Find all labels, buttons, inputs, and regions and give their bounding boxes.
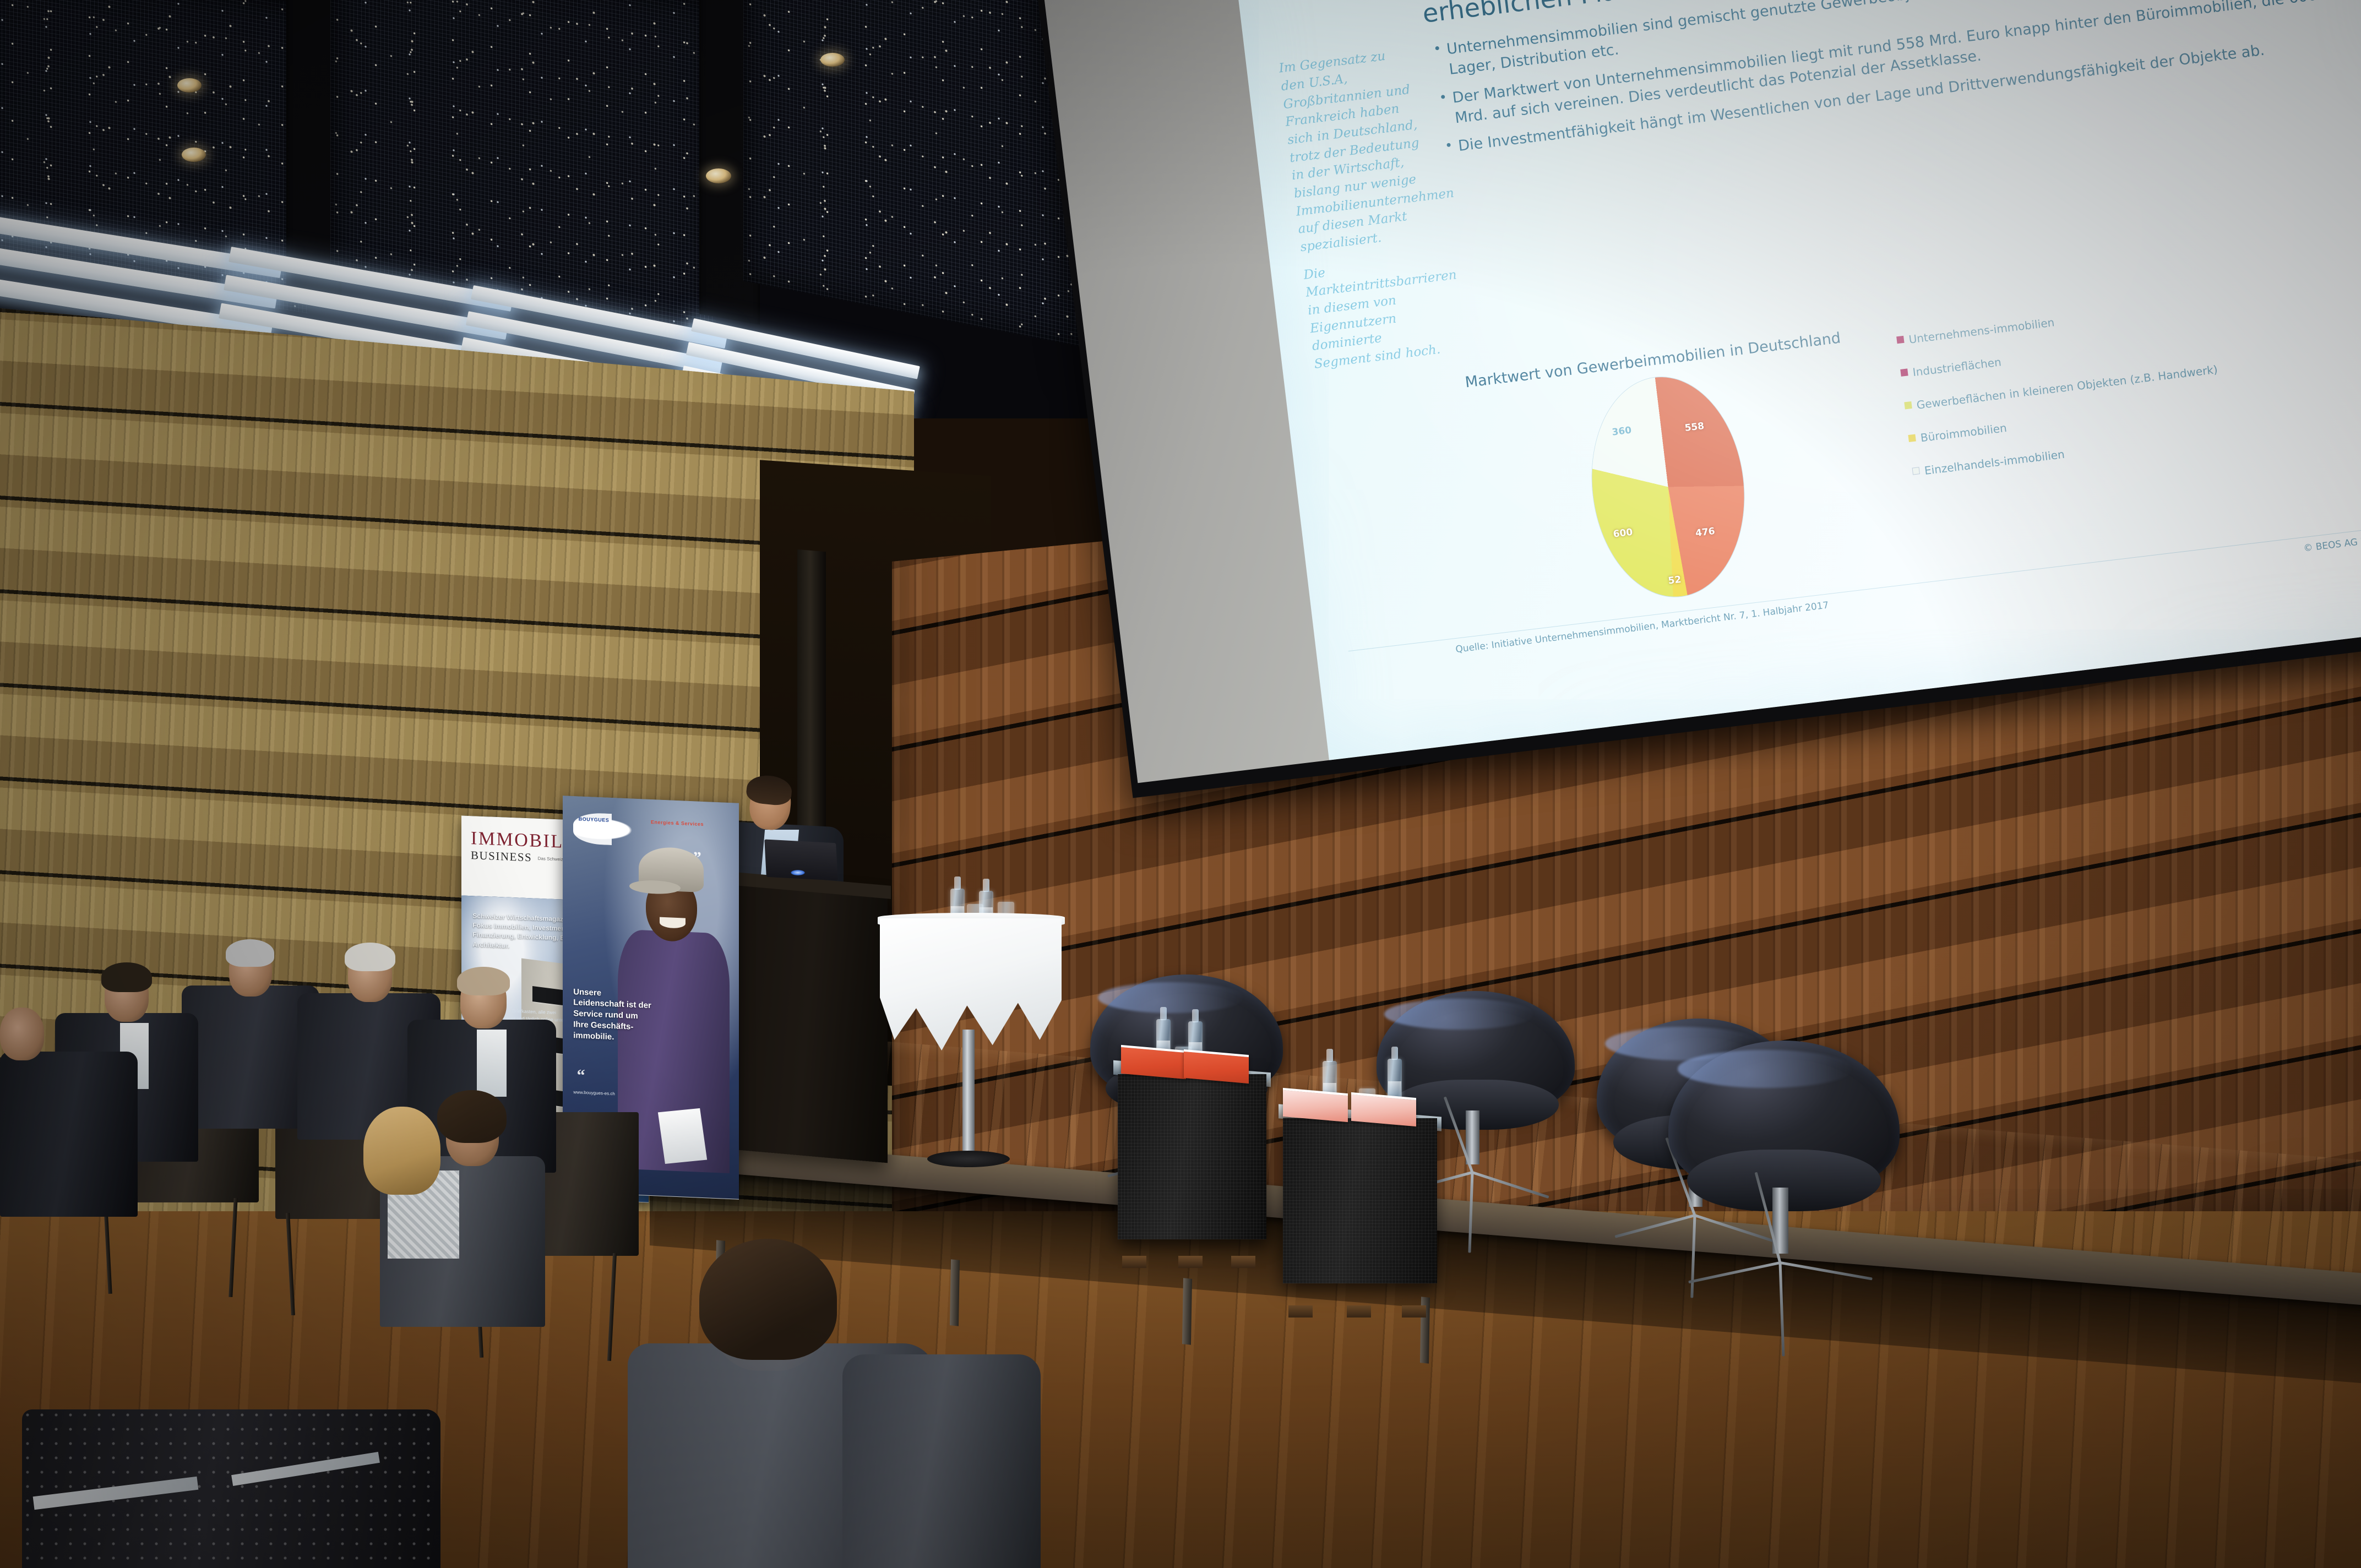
audience-member-foreground: [842, 1288, 1041, 1568]
downlight-icon: [820, 53, 845, 67]
name-card: [1121, 1045, 1186, 1079]
downlight-icon: [706, 168, 731, 183]
chart-legend: Unternehmens-immobilien Industrieflächen…: [1880, 264, 2361, 499]
pie-graphic: [1580, 368, 1756, 605]
cocktail-table: [880, 892, 1078, 1167]
legend-swatch: [1912, 467, 1919, 475]
chair-star-base: [1682, 1244, 1886, 1282]
quote-mark-icon: “: [577, 1066, 585, 1085]
legend-label: Unternehmens-immobilien: [1908, 315, 2055, 346]
banner-notebook: [658, 1108, 707, 1163]
pie-slice-label: 360: [1612, 424, 1633, 438]
legend-label: Büroimmobilien: [1919, 420, 2008, 444]
foreground-chair[interactable]: [22, 1409, 440, 1568]
pie-slice-label: 476: [1695, 526, 1716, 539]
projected-slide: Unternehmensimmobilien sind ein Wachstum…: [1234, 0, 2361, 760]
laptop-led-icon: [791, 870, 805, 875]
audience-member: [330, 1090, 468, 1321]
name-card: [1351, 1092, 1416, 1126]
side-note-paragraph: Im Gegensatz zu den U.S.A, Großbritannie…: [1278, 45, 1432, 257]
conference-room-scene: Unternehmensimmobilien sind ein Wachstum…: [0, 0, 2361, 1568]
pie-slice-label: 600: [1613, 526, 1634, 540]
starry-ceiling-panel: [330, 0, 716, 342]
legend-swatch: [1900, 368, 1908, 376]
downlight-icon: [182, 148, 206, 162]
legend-swatch: [1904, 401, 1912, 409]
banner-ib-subtitle: BUSINESS: [471, 849, 532, 864]
pie-slice-label: 558: [1684, 421, 1705, 434]
legend-swatch: [1908, 434, 1916, 442]
side-table: [1283, 1087, 1437, 1308]
side-note-paragraph: Die Markteintrittsbarrieren in diesem vo…: [1303, 251, 1446, 374]
downlight-icon: [177, 78, 202, 92]
pie-slice-label: 52: [1668, 574, 1682, 586]
side-table: [1118, 1043, 1266, 1258]
lounge-chair: [1668, 1041, 1900, 1277]
stage-leg: [1182, 1278, 1192, 1344]
legend-swatch: [1896, 335, 1904, 343]
banner-bg-claim: Unsere Leidenschaft ist der Service rund…: [573, 987, 654, 1044]
name-card: [1184, 1049, 1249, 1084]
legend-label: Einzelhandels-immobilien: [1924, 447, 2065, 477]
name-card: [1283, 1088, 1348, 1122]
audience-member: [0, 986, 138, 1217]
slide-copyright: © BEOS AG 2016, S. 8: [2303, 531, 2361, 554]
legend-label: Industrieflächen: [1912, 355, 2002, 379]
